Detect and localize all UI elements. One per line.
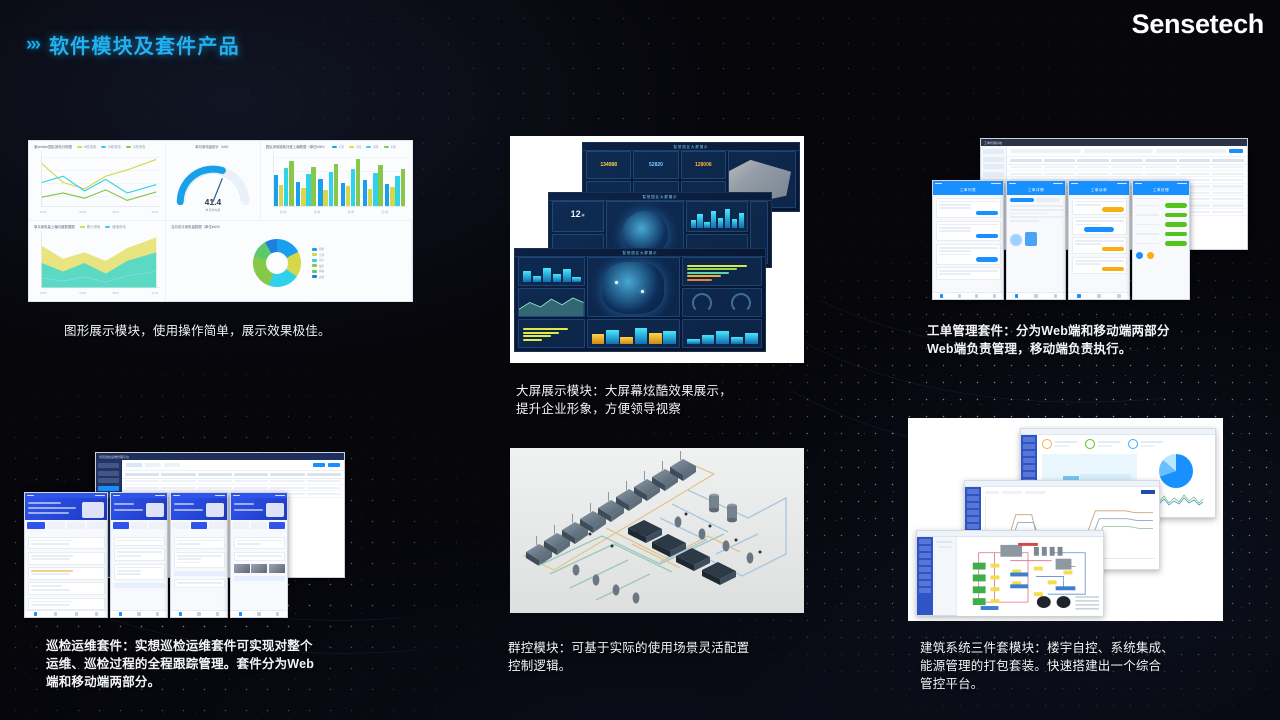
phone-header: 工单详情 [1007, 186, 1065, 195]
chart-donut-total: 当月总计用电量数据（单位kWh） 照明 空调 动力 插座 特殊 其他 [166, 221, 412, 301]
list-item[interactable] [936, 244, 1001, 265]
slide-root: ››› 软件模块及套件产品 Sensetech 某section园区用电分析图 … [0, 0, 1280, 720]
legend-item: B栋用电 [101, 145, 120, 149]
list-item[interactable] [28, 582, 105, 595]
legend-item: 其他 [312, 275, 324, 279]
big-screen-2-title: 智慧园区大屏展示 [549, 193, 771, 201]
legend-item: 4月 [384, 145, 396, 149]
list-item[interactable] [234, 552, 285, 561]
chart-horizontal-bars [682, 257, 762, 286]
chart-bar-plot: 第1周 第2周 第3周 第4周 [266, 151, 407, 214]
gauge-value: 41.4 [205, 197, 222, 207]
caption-big-screen-module: 大屏展示模块：大屏幕炫酷效果展示， 提升企业形象，方便领导视察 [516, 382, 816, 418]
status-badge [1165, 241, 1187, 246]
gauge-pair [682, 288, 762, 317]
phone-tabs[interactable] [231, 520, 287, 531]
action-button[interactable] [114, 583, 165, 588]
chart-area-plot: 03:00 09:00 15:00 21:00 [34, 231, 160, 295]
action-button[interactable] [976, 211, 998, 216]
tab-home[interactable] [231, 611, 250, 617]
tab-profile[interactable] [148, 611, 167, 617]
tab-orders[interactable] [1026, 293, 1045, 299]
tab-profile[interactable] [986, 293, 1004, 299]
action-button[interactable] [1084, 227, 1114, 232]
inspection-mobile-screen-2[interactable] [110, 492, 168, 618]
chart-donut-title: 当月总计用电量数据（单位kWh） [171, 225, 222, 229]
tab-item[interactable] [47, 522, 65, 529]
tab-item[interactable] [149, 522, 165, 529]
list-item[interactable] [114, 548, 165, 561]
legend-item: A栋用电 [77, 145, 96, 149]
list-item[interactable] [28, 537, 105, 550]
phone-hero-banner [111, 498, 167, 520]
list-item[interactable] [936, 267, 1001, 280]
workorder-mobile-screen-2[interactable]: 工单详情 [1006, 180, 1066, 300]
workorder-mobile-screen-3[interactable]: 工单派单 [1068, 180, 1130, 300]
phone-hero-banner [171, 498, 227, 520]
window-sidebar [917, 537, 933, 615]
chart-bar-title: 园区用电能耗月度上编数据（单位kWh） [266, 145, 327, 149]
caption-group-control-module: 群控模块：可基于实际的使用场景灵活配置 控制逻辑。 [508, 639, 838, 675]
kpi-card [1085, 439, 1120, 449]
kpi-card: 134088 [586, 151, 631, 179]
phone-hero-banner [231, 498, 287, 520]
tab-item[interactable] [269, 522, 285, 529]
phone-content [111, 534, 167, 610]
action-button[interactable] [174, 571, 225, 576]
legend-item: 空调 [312, 253, 324, 257]
isometric-chiller-plant-diagram [510, 448, 804, 613]
tab-item[interactable] [191, 522, 207, 529]
phone-content [1069, 195, 1129, 292]
hvac-schematic-drawing [957, 537, 1103, 616]
tab-item[interactable] [209, 522, 225, 529]
chart-mini-bars [686, 201, 748, 232]
list-item[interactable] [28, 552, 105, 565]
caption-graphic-display-module: 图形展示模块，使用操作简单，展示效果极佳。 [64, 322, 424, 340]
phone-content [25, 534, 107, 610]
status-badge [1102, 247, 1124, 252]
inspection-mobile-screen-1[interactable] [24, 492, 108, 618]
phone-tabbar[interactable] [1069, 292, 1129, 299]
tab-task[interactable] [46, 611, 67, 617]
phone-content [231, 534, 287, 610]
tab-home[interactable] [1007, 293, 1026, 299]
legend-item: 峰值用电 [105, 225, 126, 229]
legend-item: 2月 [349, 145, 361, 149]
tab-item[interactable] [87, 522, 105, 529]
action-button[interactable] [976, 257, 998, 262]
tab-profile[interactable] [87, 611, 108, 617]
phone-tabs[interactable] [111, 520, 167, 531]
list-item[interactable] [174, 537, 225, 550]
status-badge [1165, 213, 1187, 218]
legend-item: 插座 [312, 264, 324, 268]
list-item[interactable] [1072, 217, 1127, 234]
list-item[interactable] [174, 552, 225, 568]
screenshot-group-control-module[interactable] [510, 448, 804, 613]
tab-task[interactable] [250, 611, 269, 617]
phone-hero-banner [25, 498, 107, 520]
big-screen-3: 智慧园区大屏展示 [514, 248, 766, 352]
chart-mini-bars [587, 319, 680, 348]
donut-chart [253, 239, 301, 287]
photo-thumbnails[interactable] [234, 564, 285, 573]
gauge-widget: 41.4 单月用电量 [171, 151, 255, 221]
action-button[interactable] [976, 234, 998, 239]
phone-content [171, 534, 227, 610]
legend-item: 动力 [312, 258, 324, 262]
status-badge [1165, 222, 1187, 227]
chart-area-usage: 单月用电量上编月度数据图 累计用电 峰值用电 03:00 09:00 15:00… [29, 221, 166, 301]
phone-tabbar[interactable] [933, 292, 1003, 299]
kpi-card: 52820 [633, 151, 678, 179]
list-item[interactable] [1072, 257, 1127, 274]
tab-home[interactable] [25, 611, 46, 617]
phone-tabs[interactable] [25, 520, 107, 531]
tab-message[interactable] [66, 611, 87, 617]
caption-inspection-suite: 巡检运维套件：实想巡检运维套件可实现对整个 运维、巡检过程的全程跟踪管理。套件分… [46, 637, 406, 691]
table-header [122, 471, 344, 479]
big-screen-3-title: 智慧园区大屏展示 [515, 249, 765, 257]
window-titlebar: 智慧巡检运维管理平台 [96, 453, 344, 460]
tab-profile[interactable] [1109, 293, 1129, 299]
screenshot-inspection-suite[interactable]: 智慧巡检运维管理平台 [20, 448, 350, 620]
pie-chart [1159, 454, 1193, 488]
phone-tabbar[interactable] [25, 610, 107, 617]
window-titlebar: 工单管理系统 [981, 139, 1247, 146]
page-title: ››› 软件模块及套件产品 [26, 30, 240, 59]
device-tree-panel [933, 537, 957, 615]
list-item[interactable] [174, 579, 225, 588]
caption-building-systems-suite: 建筑系统三件套模块：楼宇自控、系统集成、 能源管理的打包套装。快速搭建出一个综合… [920, 639, 1250, 693]
tab-item[interactable] [27, 522, 45, 529]
tab-home[interactable] [1069, 293, 1089, 299]
chart-area-title: 单月用电量上编月度数据图 [34, 225, 75, 229]
list-item[interactable] [1072, 237, 1127, 254]
tab-orders[interactable] [951, 293, 969, 299]
status-badge [1165, 232, 1187, 237]
list-item[interactable] [936, 198, 1001, 219]
workorder-mobile-screen-1[interactable]: 工单列表 [932, 180, 1004, 300]
gauge-unit-label: 单月用电量 [205, 208, 220, 212]
tab-home[interactable] [111, 611, 130, 617]
page-title-text: 软件模块及套件产品 [49, 30, 240, 59]
tab-task[interactable] [130, 611, 149, 617]
weather-widget: 12☀ [552, 201, 604, 232]
tab-profile[interactable] [208, 611, 227, 617]
tab-item[interactable] [233, 522, 249, 529]
tab-profile[interactable] [268, 611, 287, 617]
caption-work-order-suite: 工单管理套件：分为Web端和移动端两部分 Web端负责管理，移动端负责执行。 [927, 322, 1257, 358]
action-button[interactable] [234, 576, 285, 581]
kpi-card [1128, 439, 1163, 449]
legend-item: 3月 [366, 145, 378, 149]
list-item[interactable] [114, 537, 165, 546]
tab-item[interactable] [67, 522, 85, 529]
tab-profile[interactable] [1046, 293, 1065, 299]
tab-home[interactable] [171, 611, 190, 617]
scada-schematic-window [916, 530, 1104, 616]
screenshot-work-order-suite[interactable]: 工单管理系统 [928, 128, 1258, 306]
legend-item: 1月 [332, 145, 344, 149]
brand-logo: Sensetech [1132, 9, 1264, 40]
screenshot-big-screen-module[interactable]: 智慧园区大屏展示 134088 52820 128006 智慧园区大屏展示 12… [510, 136, 804, 363]
chart-gauge-monthly-usage: 单月用电量统计（kW） 41.4 单月用电量 [166, 141, 261, 221]
chart-bar-monthly: 园区用电能耗月度上编数据（单位kWh） 1月 2月 3月 4月 [261, 141, 412, 221]
chart-mini-bars [682, 319, 762, 348]
list-item[interactable] [234, 537, 285, 550]
legend-item: C栋用电 [126, 145, 146, 149]
legend-item: 照明 [312, 247, 324, 251]
status-badge [1102, 207, 1124, 212]
screenshot-building-systems-suite[interactable] [908, 418, 1223, 621]
phone-header: 工单处理 [1133, 186, 1189, 195]
chart-gauge-title: 单月用电量统计（kW） [195, 145, 230, 149]
phone-content [933, 195, 1003, 292]
list-item[interactable] [936, 221, 1001, 242]
list-item[interactable] [28, 567, 105, 580]
chart-line-header: 某section园区用电分析图 A栋用电 B栋用电 C栋用电 [34, 145, 160, 149]
chart-mini-bars [518, 257, 585, 286]
legend-item: 累计用电 [80, 225, 101, 229]
chart-line-plot: 03:00 09:00 15:00 21:00 [34, 151, 160, 214]
tab-item[interactable] [251, 522, 267, 529]
table-header [1007, 157, 1247, 165]
tab-task[interactable] [190, 611, 209, 617]
chart-line-usage: 某section园区用电分析图 A栋用电 B栋用电 C栋用电 03:00 0 [29, 141, 166, 221]
status-badge [1165, 203, 1187, 208]
phone-header: 工单列表 [933, 186, 1003, 195]
phone-content [1007, 195, 1065, 292]
chart-horizontal-bars [518, 319, 585, 348]
phone-tabbar[interactable] [111, 610, 167, 617]
tab-message[interactable] [968, 293, 986, 299]
big-screen-1-title: 智慧园区大屏展示 [583, 143, 799, 151]
phone-header: 工单派单 [1069, 186, 1129, 195]
screenshot-graphic-display-module[interactable]: 某section园区用电分析图 A栋用电 B栋用电 C栋用电 03:00 0 [28, 140, 413, 302]
kpi-card: 128006 [681, 151, 726, 179]
phone-tabbar[interactable] [231, 610, 287, 617]
map-visual [587, 257, 680, 317]
tab-item[interactable] [131, 522, 147, 529]
tab-item[interactable] [113, 522, 129, 529]
inspection-mobile-screen-4[interactable] [230, 492, 288, 618]
list-item[interactable] [1072, 198, 1127, 215]
phone-content [1133, 195, 1189, 292]
tab-item[interactable] [173, 522, 189, 529]
phone-tabbar[interactable] [171, 610, 227, 617]
list-item[interactable] [114, 564, 165, 580]
chevron-right-icon: ››› [26, 35, 39, 54]
kpi-card [1042, 439, 1077, 449]
status-badge [1102, 267, 1124, 272]
phone-tabs[interactable] [171, 520, 227, 531]
inspection-mobile-screen-3[interactable] [170, 492, 228, 618]
tab-orders[interactable] [1089, 293, 1109, 299]
tab-home[interactable] [933, 293, 951, 299]
donut-legend: 照明 空调 动力 插座 特殊 其他 [312, 247, 324, 279]
chart-area-mini [518, 288, 585, 317]
list-item[interactable] [28, 598, 105, 610]
workorder-mobile-screen-4[interactable]: 工单处理 [1132, 180, 1190, 300]
legend-item: 特殊 [312, 269, 324, 273]
phone-tabbar[interactable] [1007, 292, 1065, 299]
